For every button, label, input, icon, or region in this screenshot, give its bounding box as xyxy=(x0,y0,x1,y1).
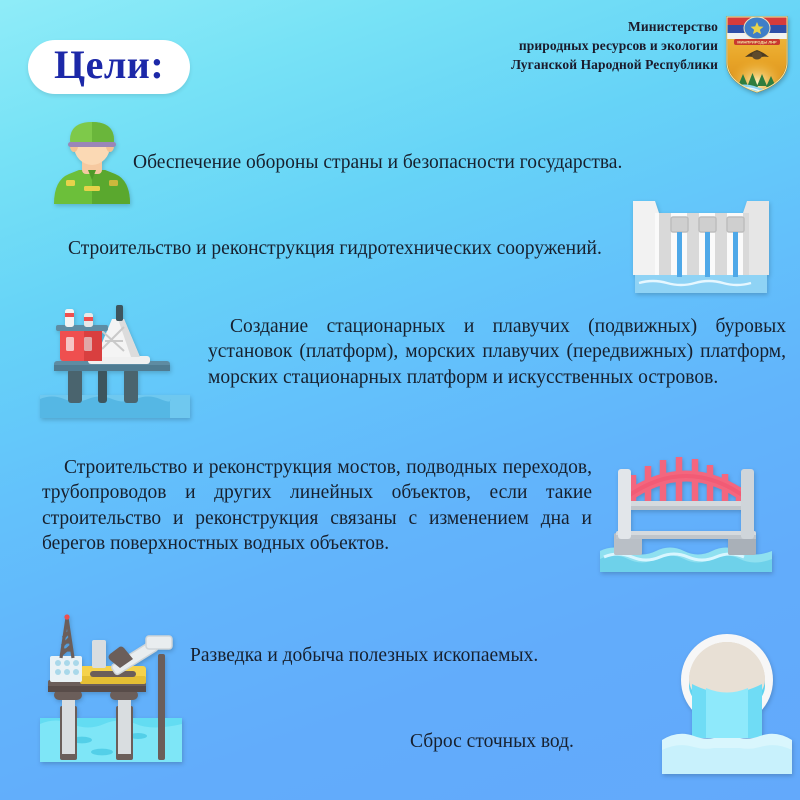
ministry-title: Министерство природных ресурсов и эколог… xyxy=(511,14,718,74)
goal-text-bridge: Строительство и реконструкция мостов, по… xyxy=(42,455,592,556)
page-title-text: Цели: xyxy=(54,42,164,87)
dam-icon xyxy=(625,193,777,293)
goal-text-minerals: Разведка и добыча полезных ископаемых. xyxy=(190,643,660,668)
page-title: Цели: xyxy=(28,40,190,94)
goal-text-sewage: Сброс сточных вод. xyxy=(410,729,710,754)
mining-platform-icon xyxy=(34,614,189,766)
goal-text-platform: Создание стационарных и плавучих (подвиж… xyxy=(208,314,786,390)
svg-text:МИНПРИРОДЫ ЛНР: МИНПРИРОДЫ ЛНР xyxy=(737,40,777,45)
ministry-line-3: Луганской Народной Республики xyxy=(511,55,718,74)
goal-text-hydro: Строительство и реконструкция гидротехни… xyxy=(46,236,626,261)
ministry-line-1: Министерство xyxy=(511,17,718,36)
poster-canvas: Министерство природных ресурсов и эколог… xyxy=(0,0,800,800)
oil-platform-icon xyxy=(40,303,190,418)
ministry-line-2: природных ресурсов и экологии xyxy=(511,36,718,55)
lnr-ministry-emblem-icon: МИНПРИРОДЫ ЛНР xyxy=(724,14,790,94)
bridge-icon xyxy=(600,447,772,572)
soldier-icon xyxy=(44,112,140,204)
ministry-header: Министерство природных ресурсов и эколог… xyxy=(511,14,790,94)
goal-text-defense: Обеспечение обороны страны и безопасност… xyxy=(133,150,693,175)
